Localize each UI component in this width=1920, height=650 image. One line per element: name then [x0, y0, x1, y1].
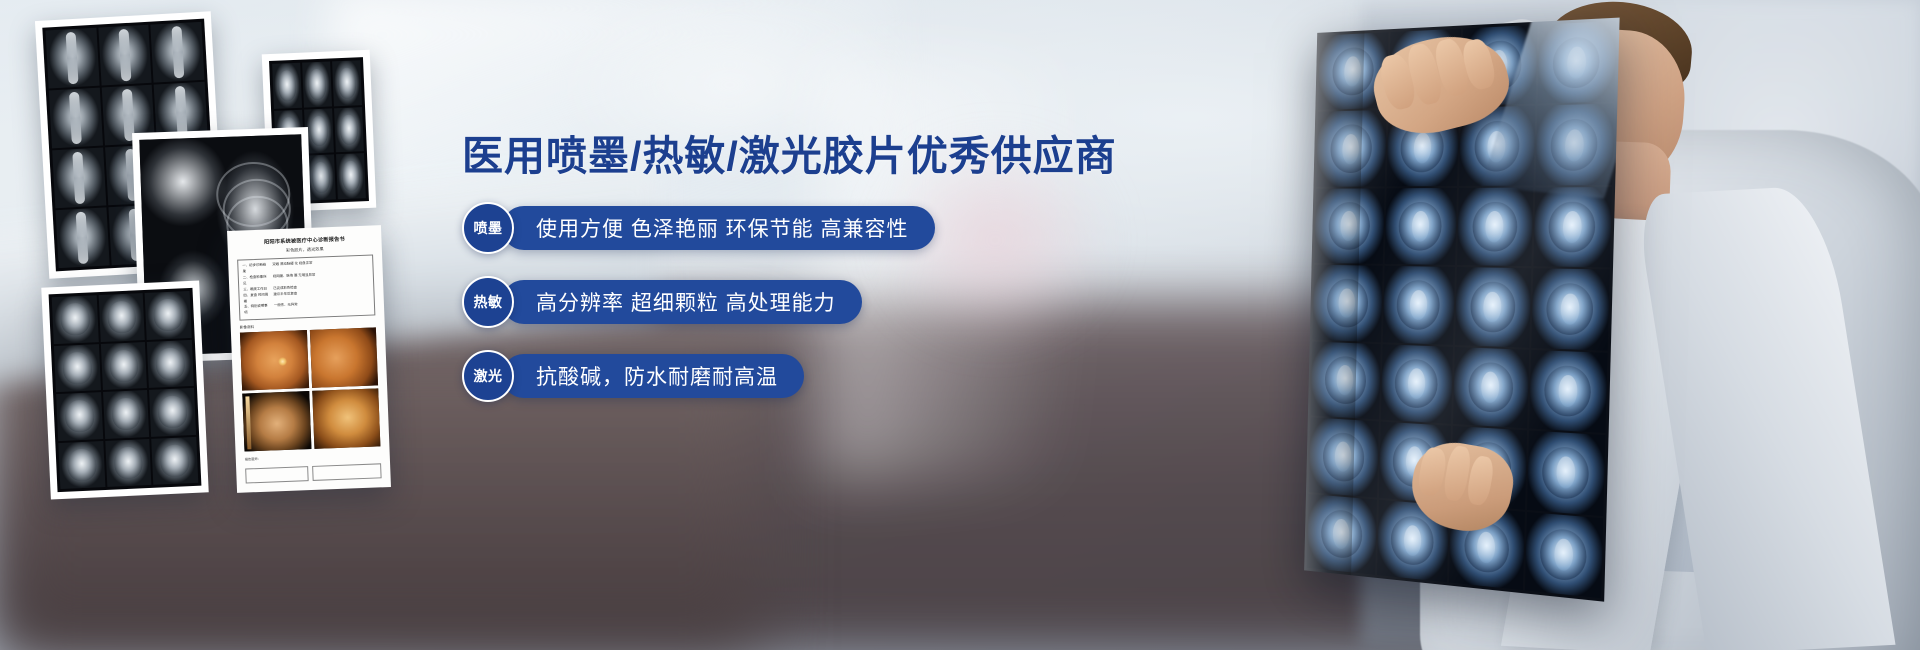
film-cell — [147, 339, 194, 387]
report-signature-box — [312, 464, 382, 482]
film-cell — [98, 25, 152, 86]
doctor-photo — [1160, 0, 1920, 650]
film-cell — [101, 342, 148, 390]
film-cell — [52, 148, 106, 209]
film-mri-brain-grid — [41, 281, 208, 500]
hero-banner: 阳阳市系统被医疗中心诊断报告书 彩色胶片，透光效果 一、初步诊断结果 双眼 底动… — [0, 0, 1920, 650]
banner-content: 医用喷墨/热敏/激光胶片优秀供应商 喷墨 使用方便 色泽艳丽 环保节能 高兼容性… — [462, 132, 1082, 402]
report-signature-row — [245, 464, 381, 484]
badge-inkjet: 喷墨 — [462, 202, 514, 254]
badge-thermal: 热敏 — [462, 276, 514, 328]
film-cell — [152, 436, 199, 484]
film-cell — [56, 207, 110, 268]
film-cell — [45, 28, 99, 89]
badge-laser: 激光 — [462, 350, 514, 402]
report-footer-label: 报告医师： — [245, 452, 381, 462]
fundus-image — [309, 328, 378, 389]
report-findings-box: 一、初步诊断结果 双眼 底动脉硬 化 视盘正常 二、检查影像所见 视网膜、脉络 … — [237, 254, 375, 321]
ultrasound-image — [242, 391, 311, 452]
film-cell — [98, 293, 145, 341]
film-cell — [58, 441, 105, 489]
film-cell — [306, 155, 336, 201]
endoscopy-image — [312, 389, 381, 450]
feature-pill-laser: 抗酸碱，防水耐磨耐高温 — [502, 354, 804, 398]
report-image-grid — [240, 328, 380, 452]
fundus-image — [240, 330, 309, 391]
film-plate — [49, 288, 202, 492]
feature-pill-thermal: 高分辨率 超细颗粒 高处理能力 — [502, 280, 862, 324]
report-signature-box — [245, 467, 308, 484]
feature-row-inkjet: 喷墨 使用方便 色泽艳丽 环保节能 高兼容性 — [462, 202, 1082, 254]
report-line-key: 五、特别说明事项 — [244, 304, 270, 317]
film-cell-grid — [49, 288, 202, 492]
report-line-key: 二、检查影像所见 — [243, 274, 269, 287]
film-cell — [149, 388, 196, 436]
film-cell — [105, 438, 152, 486]
medical-report-sheet: 阳阳市系统被医疗中心诊断报告书 彩色胶片，透光效果 一、初步诊断结果 双眼 底动… — [227, 225, 391, 493]
film-cell — [145, 291, 192, 339]
film-cell — [56, 392, 103, 440]
film-cell — [336, 153, 366, 199]
feature-pill-inkjet: 使用方便 色泽艳丽 环保节能 高兼容性 — [502, 206, 935, 250]
report-line-value: 一般性、无异常 — [274, 300, 370, 316]
film-cell — [151, 22, 205, 83]
film-cell — [103, 390, 150, 438]
film-cell — [302, 61, 332, 107]
feature-row-thermal: 热敏 高分辨率 超细颗粒 高处理能力 — [462, 276, 1082, 328]
film-cell — [332, 60, 362, 106]
film-cell — [334, 107, 364, 153]
film-cell — [49, 88, 103, 149]
report-line-key: 一、初步诊断结果 — [242, 262, 268, 275]
feature-row-laser: 激光 抗酸碱，防水耐磨耐高温 — [462, 350, 1082, 402]
film-cell — [272, 63, 302, 109]
film-collage: 阳阳市系统被医疗中心诊断报告书 彩色胶片，透光效果 一、初步诊断结果 双眼 底动… — [0, 0, 470, 650]
film-cell — [52, 295, 99, 343]
film-cell — [54, 344, 101, 392]
page-title: 医用喷墨/热敏/激光胶片优秀供应商 — [462, 132, 1082, 180]
